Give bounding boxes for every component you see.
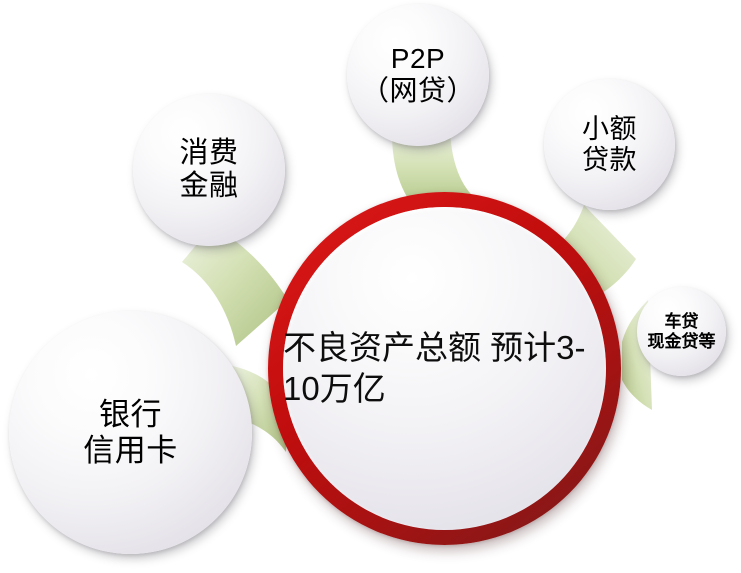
node-bank-credit-card[interactable]: 银行 信用卡 (9, 311, 252, 554)
node-p2p-online-lending[interactable]: P2P （网贷） (347, 4, 489, 146)
node-auto-and-cash-loans-label: 车贷 现金贷等 (648, 312, 716, 351)
center-node-inner: 不良资产总额 预计3-10万亿 (283, 207, 606, 530)
diagram-canvas: 不良资产总额 预计3-10万亿 消费 金融 P2P （网贷） 小额 贷款 车贷 … (0, 0, 741, 573)
node-microloan[interactable]: 小额 贷款 (544, 79, 675, 210)
node-consumer-finance-label: 消费 金融 (179, 137, 238, 203)
center-node-total-distressed-assets[interactable]: 不良资产总额 预计3-10万亿 (268, 192, 621, 545)
center-node-label: 不良资产总额 预计3-10万亿 (283, 328, 606, 409)
node-consumer-finance[interactable]: 消费 金融 (133, 94, 285, 246)
node-p2p-online-lending-label: P2P （网贷） (361, 43, 475, 107)
node-auto-and-cash-loans[interactable]: 车贷 现金贷等 (637, 287, 726, 376)
node-bank-credit-card-label: 银行 信用卡 (83, 397, 178, 468)
node-microloan-label: 小额 贷款 (582, 114, 637, 176)
